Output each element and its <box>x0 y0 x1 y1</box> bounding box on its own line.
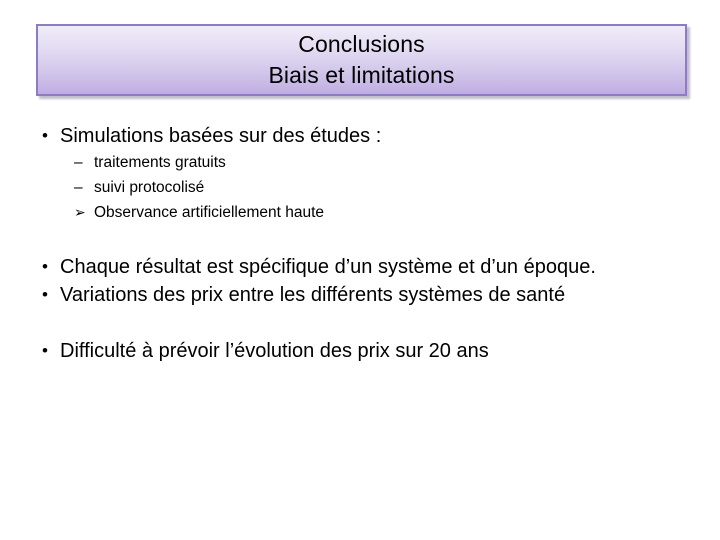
bullet-item: ➢Observance artificiellement haute <box>36 200 684 225</box>
bullet-text: Chaque résultat est spécifique d’un syst… <box>60 253 640 281</box>
bullet-item: –traitements gratuits <box>36 150 684 175</box>
bullet-item: •Chaque résultat est spécifique d’un sys… <box>36 253 684 281</box>
slide-body: •Simulations basées sur des études :–tra… <box>36 122 684 365</box>
en-dash-icon: – <box>74 150 94 175</box>
bullet-dot-icon: • <box>36 253 60 281</box>
bullet-item: •Difficulté à prévoir l’évolution des pr… <box>36 337 684 365</box>
bullet-text: suivi protocolisé <box>94 175 684 200</box>
bullet-dot-icon: • <box>36 122 60 150</box>
slide-title-line-1: Conclusions <box>298 29 424 60</box>
bullet-text: Observance artificiellement haute <box>94 200 684 225</box>
slide-title-line-2: Biais et limitations <box>268 60 454 91</box>
bullet-text: Variations des prix entre les différents… <box>60 281 640 309</box>
bullet-text: traitements gratuits <box>94 150 684 175</box>
en-dash-icon: – <box>74 175 94 200</box>
bullet-dot-icon: • <box>36 281 60 309</box>
bullet-item: –suivi protocolisé <box>36 175 684 200</box>
bullet-dot-icon: • <box>36 337 60 365</box>
bullet-text: Simulations basées sur des études : <box>60 122 640 150</box>
slide-title-box: Conclusions Biais et limitations <box>36 24 687 96</box>
presentation-slide: Conclusions Biais et limitations •Simula… <box>0 0 720 540</box>
bullet-spacer <box>36 225 684 253</box>
bullet-item: •Variations des prix entre les différent… <box>36 281 684 309</box>
bullet-text: Difficulté à prévoir l’évolution des pri… <box>60 337 640 365</box>
bullet-spacer <box>36 309 684 337</box>
arrow-triangle-icon: ➢ <box>74 200 94 225</box>
bullet-item: •Simulations basées sur des études : <box>36 122 684 150</box>
